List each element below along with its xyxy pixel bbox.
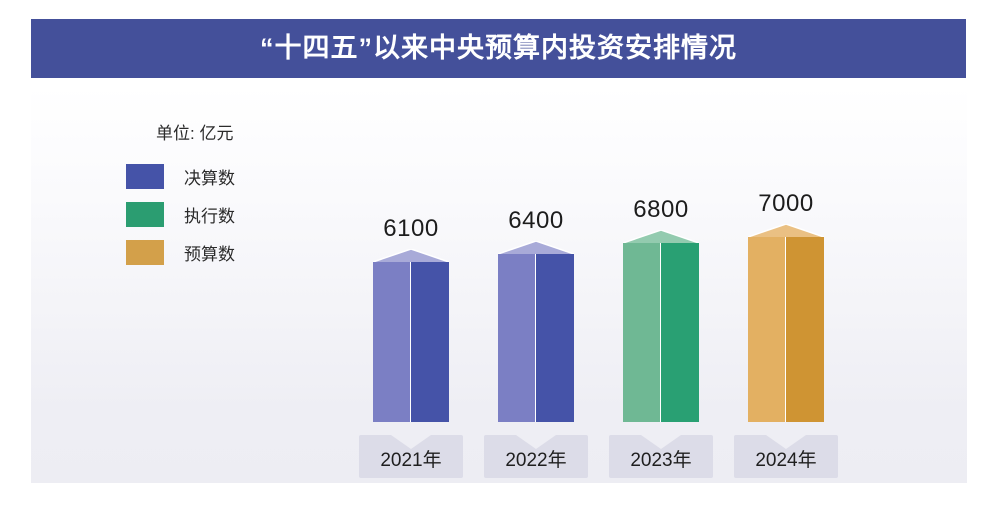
- bar-face-right: [786, 237, 824, 422]
- bar-face-left: [748, 237, 786, 422]
- bar-body: [373, 262, 449, 422]
- bar-group: 68002023年: [599, 230, 723, 478]
- bar-3d: [748, 224, 824, 435]
- year-label-text: 2021年: [359, 445, 463, 472]
- bar-value-label: 6100: [349, 215, 473, 243]
- bar-face-right: [661, 243, 699, 422]
- year-label-box: 2022年: [484, 435, 588, 478]
- year-label-box: 2023年: [609, 435, 713, 478]
- title-banner: “十四五”以来中央预算内投资安排情况: [31, 19, 966, 78]
- bar-face-right: [411, 262, 449, 422]
- year-label-box: 2024年: [734, 435, 838, 478]
- bar-face-left: [498, 254, 536, 422]
- year-label-text: 2022年: [484, 445, 588, 472]
- bar-3d: [373, 249, 449, 435]
- bar-value-label: 6800: [599, 196, 723, 224]
- bar-value-label: 7000: [724, 190, 848, 218]
- bar-body: [623, 243, 699, 422]
- bars-area: 61002021年64002022年68002023年70002024年: [31, 86, 967, 483]
- chart-panel: 单位: 亿元 决算数 执行数 预算数 61002021年64002022年680…: [31, 86, 967, 483]
- bar-body: [498, 254, 574, 422]
- bar-body: [748, 237, 824, 422]
- bar-group: 70002024年: [724, 224, 848, 478]
- bar-group: 61002021年: [349, 249, 473, 478]
- page-title: “十四五”以来中央预算内投资安排情况: [260, 35, 737, 62]
- bar-group: 64002022年: [474, 241, 598, 478]
- bar-face-left: [623, 243, 661, 422]
- bar-value-label: 6400: [474, 207, 598, 235]
- bar-3d: [498, 241, 574, 435]
- year-label-text: 2023年: [609, 445, 713, 472]
- year-label-box: 2021年: [359, 435, 463, 478]
- infographic-root: “十四五”以来中央预算内投资安排情况 单位: 亿元 决算数 执行数 预算数 61…: [0, 0, 997, 510]
- bar-3d: [623, 230, 699, 435]
- bar-face-right: [536, 254, 574, 422]
- year-label-text: 2024年: [734, 445, 838, 472]
- bar-face-left: [373, 262, 411, 422]
